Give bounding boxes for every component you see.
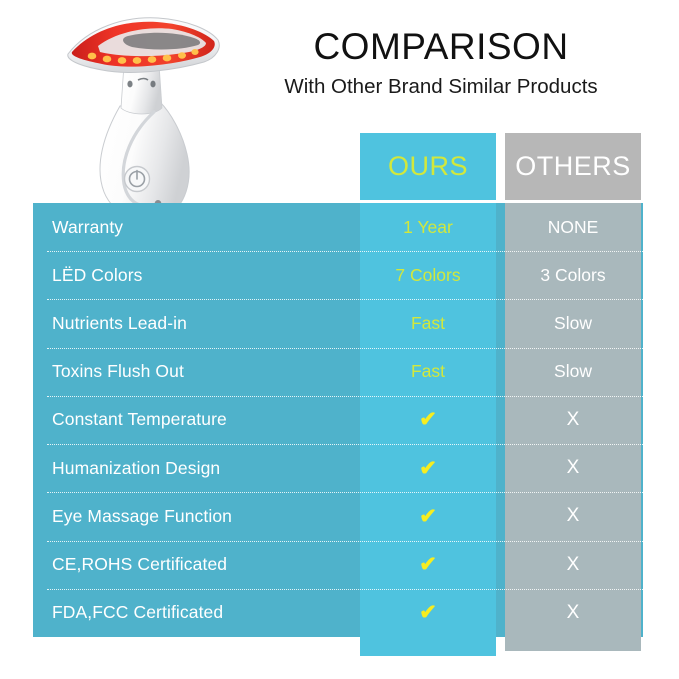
others-cross-icon: X <box>505 505 641 527</box>
table-row: LËD Colors7 Colors3 Colors <box>33 251 643 299</box>
feature-label: CE,ROHS Certificated <box>52 554 352 575</box>
title-block: COMPARISON With Other Brand Similar Prod… <box>231 28 651 98</box>
feature-label: Eye Massage Function <box>52 506 352 527</box>
ours-check-icon: ✔ <box>360 407 496 432</box>
table-row: CE,ROHS Certificated✔X <box>33 541 643 589</box>
others-cross-icon: X <box>505 602 641 624</box>
others-cross-icon: X <box>505 554 641 576</box>
ours-value: Fast <box>360 313 496 334</box>
ours-check-icon: ✔ <box>360 600 496 625</box>
comparison-chart-canvas: COMPARISON With Other Brand Similar Prod… <box>0 0 679 679</box>
feature-label: Constant Temperature <box>52 409 352 430</box>
feature-label: Nutrients Lead-in <box>52 313 352 334</box>
ours-value: 1 Year <box>360 217 496 238</box>
power-button-icon <box>125 167 150 192</box>
feature-label: FDA,FCC Certificated <box>52 602 352 623</box>
others-value: 3 Colors <box>505 265 641 286</box>
others-value: Slow <box>505 313 641 334</box>
ours-value: Fast <box>360 361 496 382</box>
others-value: NONE <box>505 217 641 238</box>
table-row: Nutrients Lead-inFastSlow <box>33 299 643 347</box>
table-row: Eye Massage Function✔X <box>33 492 643 540</box>
others-cross-icon: X <box>505 409 641 431</box>
feature-label: Humanization Design <box>52 458 352 479</box>
page-subtitle: With Other Brand Similar Products <box>231 76 651 99</box>
page-title: COMPARISON <box>231 28 651 67</box>
comparison-table: Warranty1 YearNONELËD Colors7 Colors3 Co… <box>33 203 643 637</box>
feature-label: LËD Colors <box>52 265 352 286</box>
ours-check-icon: ✔ <box>360 552 496 577</box>
table-row: FDA,FCC Certificated✔X <box>33 589 643 637</box>
ours-check-icon: ✔ <box>360 456 496 481</box>
table-row: Toxins Flush OutFastSlow <box>33 348 643 396</box>
table-row: Warranty1 YearNONE <box>33 203 643 251</box>
others-cross-icon: X <box>505 457 641 479</box>
comparison-table-rows: Warranty1 YearNONELËD Colors7 Colors3 Co… <box>33 203 643 637</box>
others-value: Slow <box>505 361 641 382</box>
feature-label: Warranty <box>52 217 352 238</box>
column-header-others: OTHERS <box>505 133 641 200</box>
ours-value: 7 Colors <box>360 265 496 286</box>
table-row: Constant Temperature✔X <box>33 396 643 444</box>
feature-label: Toxins Flush Out <box>52 361 352 382</box>
column-header-ours: OURS <box>360 133 496 200</box>
table-row: Humanization Design✔X <box>33 444 643 492</box>
product-image <box>58 8 230 233</box>
ours-check-icon: ✔ <box>360 504 496 529</box>
massager-device-illustration <box>58 8 230 233</box>
